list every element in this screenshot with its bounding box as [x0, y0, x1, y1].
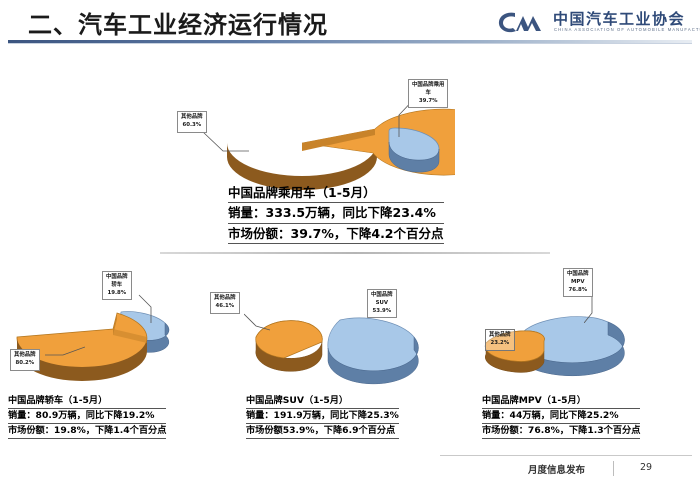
callout-value: 53.9% [371, 308, 393, 316]
summary-suv: 中国品牌SUV（1-5月） 销量：191.9万辆，同比下降25.3% 市场份额5… [246, 394, 399, 439]
callout-leader-line [584, 297, 600, 323]
page-title: 二、汽车工业经济运行情况 [28, 5, 328, 40]
callout-label: 其他品牌 [214, 295, 236, 303]
summary-line-title: 中国品牌SUV（1-5月） [246, 394, 399, 409]
callout-value: 76.8% [567, 287, 589, 295]
summary-line-share: 市场份额：19.8%，下降1.4个百分点 [8, 424, 166, 439]
pie-chart-passenger-vehicle: 其他品牌 60.3% 中国品牌乘用 车 39.7% [205, 95, 455, 190]
pie-chart-suv: 其他品牌 46.1% 中国品牌 SUV 53.9% [218, 292, 433, 387]
footer-label: 月度信息发布 [528, 462, 585, 476]
callout-leader-line [137, 293, 155, 323]
callout-other-brands-suv: 其他品牌 46.1% [210, 292, 240, 314]
callout-value: 80.2% [14, 360, 36, 368]
callout-other-brands-mpv: 其他品牌 23.2% [485, 329, 515, 351]
callout-label-line2: 轿车 [106, 282, 128, 290]
summary-mpv: 中国品牌MPV（1-5月） 销量：44万辆，同比下降25.2% 市场份额：76.… [482, 394, 640, 439]
summary-line-share: 市场份额53.9%，下降6.9个百分点 [246, 424, 399, 439]
callout-label-line2: 车 [412, 90, 444, 98]
pie-graphic-suv [218, 292, 433, 387]
summary-line-sales: 销量：191.9万辆，同比下降25.3% [246, 409, 399, 424]
footer-separator [613, 461, 614, 476]
callout-leader-line [45, 345, 85, 359]
logo-chinese-name: 中国汽车工业协会 [553, 8, 685, 29]
callout-china-brand-passenger: 中国品牌乘用 车 39.7% [408, 79, 448, 108]
callout-label-line2: MPV [567, 279, 589, 287]
callout-china-brand-mpv: 中国品牌 MPV 76.8% [563, 268, 593, 297]
callout-china-brand-suv: 中国品牌 SUV 53.9% [367, 289, 397, 318]
callout-label: 其他品牌 [489, 332, 511, 340]
summary-line-title: 中国品牌轿车（1-5月） [8, 394, 166, 409]
callout-label-line2: SUV [371, 300, 393, 308]
summary-sedan: 中国品牌轿车（1-5月） 销量：80.9万辆，同比下降19.2% 市场份额：19… [8, 394, 166, 439]
summary-passenger-vehicle: 中国品牌乘用车（1-5月） 销量：333.5万辆，同比下降23.4% 市场份额：… [228, 183, 444, 244]
callout-other-brands-sedan: 其他品牌 80.2% [10, 349, 40, 371]
callout-china-brand-sedan: 中国品牌 轿车 19.8% [102, 271, 132, 300]
callout-value: 23.2% [489, 340, 511, 348]
callout-label-line1: 中国品牌 [371, 292, 393, 300]
page-number: 29 [640, 462, 652, 473]
callout-leader-line [244, 310, 270, 336]
section-divider [160, 252, 550, 254]
callout-label-line1: 中国品牌 [567, 271, 589, 279]
callout-other-brands-passenger: 其他品牌 60.3% [177, 111, 207, 133]
summary-line-sales: 销量：333.5万辆，同比下降23.4% [228, 203, 444, 223]
header-divider-secondary [8, 43, 692, 44]
logo-english-name: CHINA ASSOCIATION OF AUTOMOBILE MANUFACT… [554, 27, 700, 32]
callout-value: 60.3% [181, 122, 203, 130]
summary-line-share: 市场份额：76.8%，下降1.3个百分点 [482, 424, 640, 439]
organization-logo: 中国汽车工业协会 CHINA ASSOCIATION OF AUTOMOBILE… [497, 6, 693, 38]
callout-value: 19.8% [106, 290, 128, 298]
cam-logo-icon [497, 9, 549, 35]
footer-divider [440, 455, 692, 456]
callout-label: 其他品牌 [14, 352, 36, 360]
callout-label-line1: 中国品牌 [106, 274, 128, 282]
slide-header: 二、汽车工业经济运行情况 中国汽车工业协会 CHINA ASSOCIATION … [0, 0, 700, 46]
pie-chart-sedan: 中国品牌 轿车 19.8% 其他品牌 80.2% [5, 285, 220, 385]
slide-root: 二、汽车工业经济运行情况 中国汽车工业协会 CHINA ASSOCIATION … [0, 0, 700, 483]
summary-line-title: 中国品牌乘用车（1-5月） [228, 183, 444, 203]
callout-label: 其他品牌 [181, 114, 203, 122]
callout-label-line1: 中国品牌乘用 [412, 82, 444, 90]
summary-line-sales: 销量：80.9万辆，同比下降19.2% [8, 409, 166, 424]
pie-chart-mpv: 中国品牌 MPV 76.8% 其他品牌 23.2% [468, 285, 693, 385]
callout-leader-line [203, 129, 249, 159]
callout-value: 39.7% [412, 98, 444, 106]
summary-line-sales: 销量：44万辆，同比下降25.2% [482, 409, 640, 424]
summary-line-title: 中国品牌MPV（1-5月） [482, 394, 640, 409]
callout-value: 46.1% [214, 303, 236, 311]
summary-line-share: 市场份额：39.7%，下降4.2个百分点 [228, 224, 444, 244]
